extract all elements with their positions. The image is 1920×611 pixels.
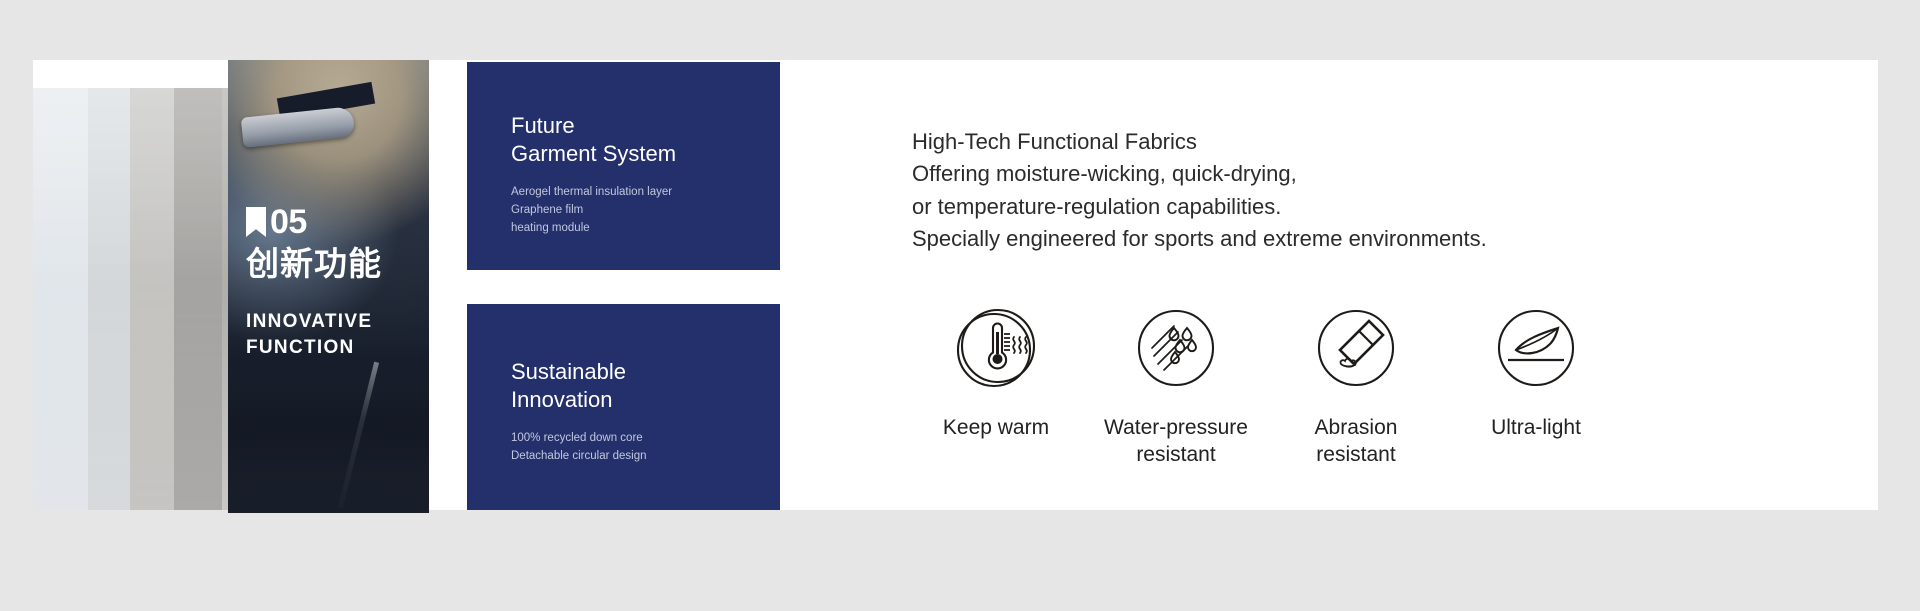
section-title-en: INNOVATIVE FUNCTION — [246, 309, 436, 360]
card-title-line1: Sustainable — [511, 358, 750, 386]
feature-label: Ultra-light — [1491, 414, 1581, 441]
card-sustainable-innovation[interactable]: Sustainable Innovation 100% recycled dow… — [467, 304, 780, 510]
card-sub-line1: Aerogel thermal insulation layer — [511, 184, 750, 202]
main-copy: High-Tech Functional Fabrics Offering mo… — [912, 126, 1487, 255]
feature-label: Abrasion resistant — [1315, 414, 1398, 469]
feature-ultra-light[interactable]: Ultra-light — [1446, 306, 1626, 469]
feature-abrasion-resistant[interactable]: Abrasion resistant — [1266, 306, 1446, 469]
water-droplets-icon — [1134, 306, 1218, 390]
section-title-en-line2: FUNCTION — [246, 335, 436, 361]
feature-list: Keep warm Water-pr — [906, 306, 1626, 469]
card-subtitle: 100% recycled down core Detachable circu… — [511, 430, 750, 466]
feature-label: Water-pressure resistant — [1104, 414, 1248, 469]
card-sub-line1: 100% recycled down core — [511, 430, 750, 448]
card-title: Sustainable Innovation — [511, 358, 750, 414]
description-paragraph: High-Tech Functional Fabrics Offering mo… — [912, 126, 1487, 255]
feather-light-icon — [1494, 306, 1578, 390]
card-title-line2: Garment System — [511, 140, 750, 168]
card-title-line2: Innovation — [511, 386, 750, 414]
card-title-line1: Future — [511, 112, 750, 140]
section-number: 05 — [270, 205, 307, 239]
feature-water-pressure-resistant[interactable]: Water-pressure resistant — [1086, 306, 1266, 469]
thermometer-heat-icon — [954, 306, 1038, 390]
eraser-abrasion-icon — [1314, 306, 1398, 390]
card-sub-line2: Graphene film — [511, 202, 750, 220]
slide-root: 05 创新功能 INNOVATIVE FUNCTION Future Garme… — [0, 0, 1920, 611]
section-title-en-line1: INNOVATIVE — [246, 309, 436, 335]
card-future-garment-system[interactable]: Future Garment System Aerogel thermal in… — [467, 62, 780, 270]
bookmark-icon — [246, 207, 266, 237]
section-title-cn: 创新功能 — [246, 245, 436, 283]
card-title: Future Garment System — [511, 112, 750, 168]
card-subtitle: Aerogel thermal insulation layer Graphen… — [511, 184, 750, 237]
card-content: Future Garment System Aerogel thermal in… — [511, 112, 750, 238]
feature-label: Keep warm — [943, 414, 1049, 441]
card-content: Sustainable Innovation 100% recycled dow… — [511, 358, 750, 466]
hero-caption: 05 创新功能 INNOVATIVE FUNCTION — [246, 205, 436, 360]
feature-keep-warm[interactable]: Keep warm — [906, 306, 1086, 469]
section-number-row: 05 — [246, 205, 436, 239]
card-sub-line2: Detachable circular design — [511, 448, 750, 466]
card-sub-line3: heating module — [511, 220, 750, 238]
